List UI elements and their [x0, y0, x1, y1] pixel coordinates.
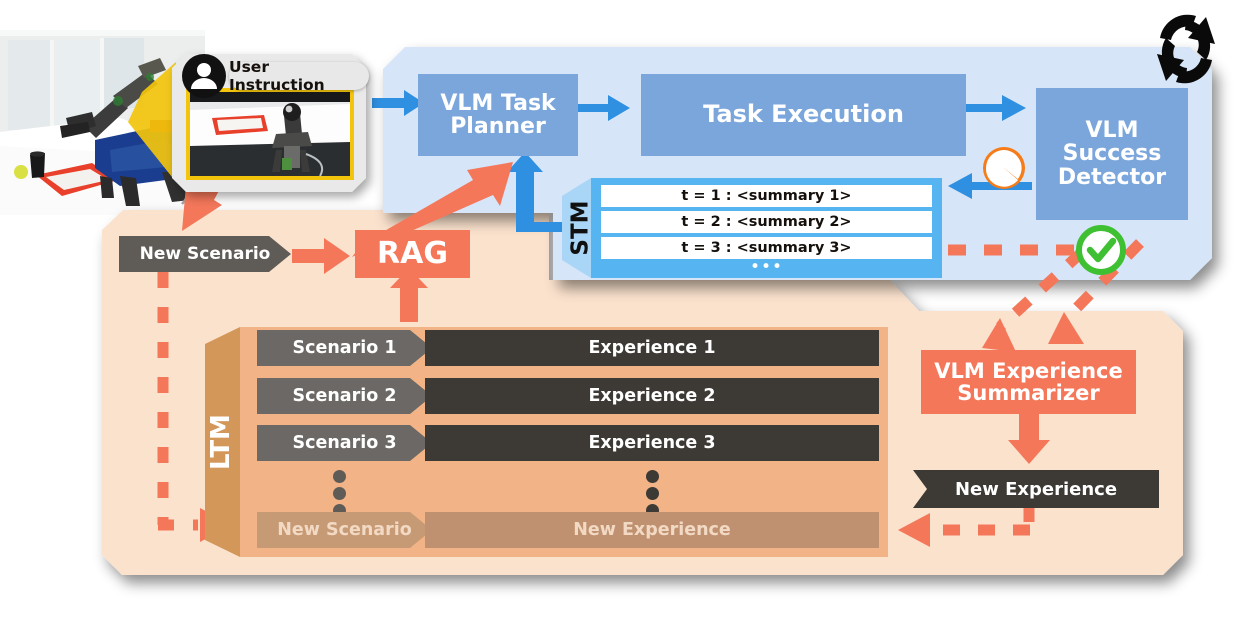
- ltm-scenario-label: Scenario 2: [292, 386, 396, 406]
- ltm-new-scenario-tag[interactable]: New Scenario: [257, 512, 432, 548]
- ltm-scenario-tag[interactable]: Scenario 1: [257, 330, 432, 366]
- detector-line-2: Success: [1063, 142, 1162, 165]
- new-experience-tag[interactable]: New Experience: [913, 470, 1159, 508]
- detector-line-1: VLM: [1086, 119, 1139, 142]
- user-instruction-label: User Instruction: [229, 62, 369, 90]
- ltm-experience-tag[interactable]: Experience 1: [425, 330, 879, 366]
- vlm-experience-summarizer-box[interactable]: VLM Experience Summarizer: [921, 350, 1136, 414]
- summarizer-line-2: Summarizer: [957, 382, 1099, 404]
- ltm-experience-label: Experience 3: [588, 433, 715, 453]
- ltm-experience-tag[interactable]: Experience 3: [425, 425, 879, 461]
- stm-label-text: STM: [568, 200, 594, 255]
- ltm-new-experience-tag[interactable]: New Experience: [425, 512, 879, 548]
- ltm-experience-tag[interactable]: Experience 2: [425, 378, 879, 414]
- task-execution-label: Task Execution: [703, 102, 904, 127]
- ltm-new-experience-label: New Experience: [573, 520, 731, 540]
- ltm-label: LTM: [193, 410, 249, 474]
- ltm-dot: [333, 470, 346, 483]
- summarizer-line-1: VLM Experience: [934, 360, 1122, 382]
- timer-pie-icon: [983, 147, 1025, 189]
- ltm-new-scenario-label: New Scenario: [277, 520, 412, 540]
- ltm-dot: [646, 487, 659, 500]
- diagram-canvas: User Instruction VLM Task Planner Task E…: [0, 0, 1246, 620]
- ltm-label-text: LTM: [206, 414, 236, 470]
- ltm-dot: [333, 487, 346, 500]
- stm-row: t = 2 : <summary 2>: [601, 211, 932, 233]
- ltm-scenario-tag[interactable]: Scenario 3: [257, 425, 432, 461]
- task-execution-box[interactable]: Task Execution: [641, 74, 966, 156]
- new-scenario-tag[interactable]: New Scenario: [119, 236, 291, 272]
- success-check-icon: [1079, 228, 1123, 272]
- rag-box[interactable]: RAG: [355, 230, 470, 278]
- stm-row: t = 3 : <summary 3>: [601, 237, 932, 259]
- vlm-task-planner-box[interactable]: VLM Task Planner: [418, 74, 578, 156]
- ltm-experience-label: Experience 2: [588, 386, 715, 406]
- ltm-scenario-tag[interactable]: Scenario 2: [257, 378, 432, 414]
- stm-ellipsis: •••: [601, 258, 932, 276]
- ltm-scenario-label: Scenario 3: [292, 433, 396, 453]
- rag-label: RAG: [377, 238, 448, 270]
- ltm-dot: [646, 470, 659, 483]
- vlm-success-detector-box[interactable]: VLM Success Detector: [1036, 88, 1188, 220]
- ltm-experience-label: Experience 1: [588, 338, 715, 358]
- user-avatar-icon: [182, 54, 226, 98]
- planner-line-2: Planner: [450, 115, 546, 138]
- ltm-scenario-label: Scenario 1: [292, 338, 396, 358]
- instruction-photo: [186, 88, 354, 180]
- new-scenario-label: New Scenario: [140, 244, 271, 264]
- new-experience-label: New Experience: [955, 479, 1117, 500]
- planner-line-1: VLM Task: [440, 92, 555, 115]
- detector-line-3: Detector: [1058, 166, 1166, 189]
- stm-row: t = 1 : <summary 1>: [601, 185, 932, 207]
